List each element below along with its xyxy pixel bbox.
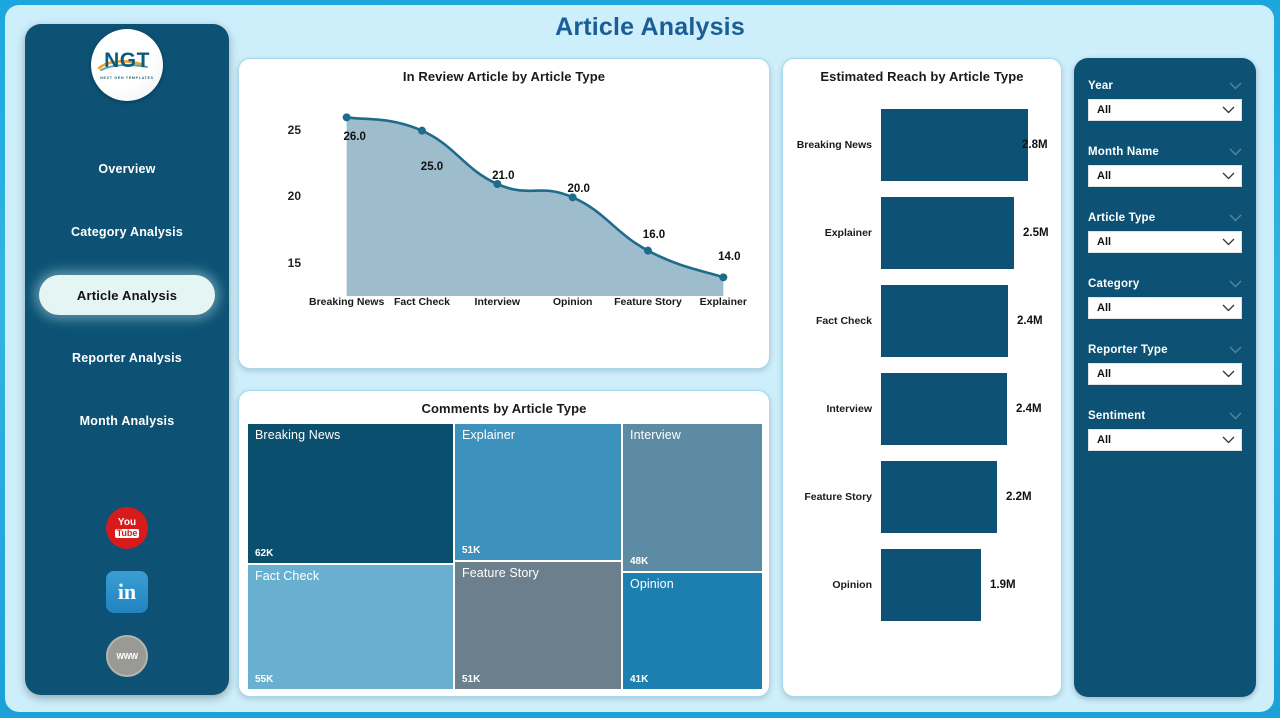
youtube-label-bottom: Tube — [115, 529, 140, 538]
x-tick-label: Fact Check — [384, 296, 459, 309]
slicer-year: Year All — [1088, 80, 1242, 121]
bar-value-label: 2.4M — [1017, 315, 1043, 327]
treemap-tile-label: Fact Check — [255, 569, 319, 583]
bar-row[interactable]: Fact Check 2.4M — [783, 277, 1061, 365]
chevron-down-icon — [1222, 436, 1235, 444]
slicer-label: Year — [1088, 80, 1113, 92]
treemap-tile-label: Explainer — [462, 428, 515, 442]
data-label: 16.0 — [643, 229, 665, 241]
slicer-dropdown[interactable]: All — [1088, 297, 1242, 319]
bar-category-label: Interview — [783, 403, 881, 415]
x-tick-label: Explainer — [686, 296, 761, 309]
slicer-header[interactable]: Article Type — [1088, 212, 1242, 224]
chart-title-comments: Comments by Article Type — [239, 391, 769, 416]
treemap-tile-value: 62K — [255, 548, 273, 559]
slicer-dropdown[interactable]: All — [1088, 99, 1242, 121]
app-logo: NGT NEXT GEN TEMPLATES — [91, 29, 163, 101]
slicer-header[interactable]: Sentiment — [1088, 410, 1242, 422]
slicer-category: Category All — [1088, 278, 1242, 319]
social-links: You Tube in WWW — [25, 507, 229, 677]
bar-track: 2.4M — [881, 365, 1061, 453]
sidebar-item-article-analysis[interactable]: Article Analysis — [39, 275, 215, 315]
data-label: 14.0 — [718, 251, 740, 263]
slicer-article-type: Article Type All — [1088, 212, 1242, 253]
filter-panel: Year All Month Name All Article Type — [1074, 58, 1256, 697]
bar-track: 1.9M — [881, 541, 1061, 629]
bar-value-label: 2.8M — [1022, 139, 1048, 151]
chevron-down-icon — [1229, 148, 1242, 156]
slicer-value: All — [1097, 368, 1111, 380]
chevron-down-icon — [1229, 280, 1242, 288]
bar-value-label: 1.9M — [990, 579, 1016, 591]
logo-mark: NGT — [104, 50, 150, 71]
bar-track: 2.2M — [881, 453, 1061, 541]
dashboard-page: NGT NEXT GEN TEMPLATES Overview Category… — [5, 5, 1274, 712]
slicer-dropdown[interactable]: All — [1088, 363, 1242, 385]
chevron-down-icon — [1222, 106, 1235, 114]
sidebar-item-label: Category Analysis — [71, 225, 183, 239]
sidebar: NGT NEXT GEN TEMPLATES Overview Category… — [25, 24, 229, 695]
in-review-article-chart-card: In Review Article by Article Type 25 20 … — [238, 58, 770, 369]
chart-title-estimated-reach: Estimated Reach by Article Type — [783, 59, 1061, 84]
bar-row[interactable]: Breaking News 2.8M — [783, 101, 1061, 189]
slicer-value: All — [1097, 170, 1111, 182]
treemap-tile-value: 41K — [630, 674, 648, 685]
bar-row[interactable]: Feature Story 2.2M — [783, 453, 1061, 541]
chevron-down-icon — [1222, 370, 1235, 378]
logo-subtitle: NEXT GEN TEMPLATES — [100, 76, 153, 80]
sidebar-item-label: Reporter Analysis — [72, 351, 182, 365]
bar-value-label: 2.2M — [1006, 491, 1032, 503]
slicer-label: Month Name — [1088, 146, 1159, 158]
slicer-value: All — [1097, 104, 1111, 116]
bar-track: 2.5M — [881, 189, 1061, 277]
slicer-header[interactable]: Year — [1088, 80, 1242, 92]
treemap-tile-value: 51K — [462, 545, 480, 556]
slicer-value: All — [1097, 434, 1111, 446]
bar-track: 2.4M — [881, 277, 1061, 365]
bar-fill — [881, 373, 1007, 445]
linkedin-icon[interactable]: in — [106, 571, 148, 613]
bar-fill — [881, 461, 997, 533]
slicer-label: Sentiment — [1088, 410, 1145, 422]
bar-row[interactable]: Opinion 1.9M — [783, 541, 1061, 629]
bar-value-label: 2.4M — [1016, 403, 1042, 415]
bar-fill — [881, 549, 981, 621]
x-tick-label: Breaking News — [309, 296, 384, 309]
comments-treemap-card: Comments by Article Type Breaking News 6… — [238, 390, 770, 697]
slicer-dropdown[interactable]: All — [1088, 231, 1242, 253]
slicer-header[interactable]: Category — [1088, 278, 1242, 290]
sidebar-item-label: Overview — [98, 162, 155, 176]
x-tick-label: Opinion — [535, 296, 610, 309]
bar-category-label: Fact Check — [783, 315, 881, 327]
website-glyph: WWW — [116, 652, 137, 661]
data-label: 20.0 — [567, 183, 589, 195]
sidebar-item-overview[interactable]: Overview — [39, 149, 215, 189]
slicer-value: All — [1097, 236, 1111, 248]
chevron-down-icon — [1229, 412, 1242, 420]
treemap-tile[interactable]: Fact Check 55K — [248, 565, 453, 689]
page-title: Article Analysis — [235, 13, 1065, 42]
slicer-dropdown[interactable]: All — [1088, 165, 1242, 187]
slicer-label: Category — [1088, 278, 1139, 290]
chevron-down-icon — [1222, 238, 1235, 246]
youtube-label-top: You — [118, 518, 136, 528]
treemap-tile[interactable]: Opinion 41K — [623, 573, 762, 689]
bar-track: 2.8M — [881, 101, 1061, 189]
treemap-tile-value: 48K — [630, 556, 648, 567]
bar-category-label: Opinion — [783, 579, 881, 591]
chevron-down-icon — [1222, 172, 1235, 180]
chevron-down-icon — [1229, 346, 1242, 354]
treemap-tile-value: 51K — [462, 674, 480, 685]
x-tick-label: Interview — [460, 296, 535, 309]
slicer-label: Reporter Type — [1088, 344, 1168, 356]
linkedin-glyph: in — [118, 579, 136, 605]
chevron-down-icon — [1229, 214, 1242, 222]
slicer-header[interactable]: Month Name — [1088, 146, 1242, 158]
treemap-tile-label: Breaking News — [255, 428, 340, 442]
bar-category-label: Explainer — [783, 227, 881, 239]
bar-value-label: 2.5M — [1023, 227, 1049, 239]
data-label: 25.0 — [421, 161, 443, 173]
website-icon[interactable]: WWW — [106, 635, 148, 677]
bar-chart: Breaking News 2.8M Explainer 2.5M Fact C… — [783, 101, 1061, 629]
data-label: 26.0 — [343, 131, 365, 143]
x-axis-labels: Breaking News Fact Check Interview Opini… — [309, 296, 761, 309]
bar-category-label: Breaking News — [783, 139, 881, 151]
slicer-value: All — [1097, 302, 1111, 314]
slicer-sentiment: Sentiment All — [1088, 410, 1242, 451]
treemap-tile-label: Interview — [630, 428, 681, 442]
estimated-reach-chart-card: Estimated Reach by Article Type Breaking… — [782, 58, 1062, 697]
data-label: 21.0 — [492, 170, 514, 182]
chevron-down-icon — [1222, 304, 1235, 312]
bar-row[interactable]: Explainer 2.5M — [783, 189, 1061, 277]
sidebar-nav: Overview Category Analysis Article Analy… — [25, 149, 229, 464]
bar-fill — [881, 109, 1028, 181]
bar-fill — [881, 197, 1014, 269]
treemap-tile[interactable]: Feature Story 51K — [455, 562, 621, 689]
bar-row[interactable]: Interview 2.4M — [783, 365, 1061, 453]
slicer-header[interactable]: Reporter Type — [1088, 344, 1242, 356]
treemap-tile-value: 55K — [255, 674, 273, 685]
slicer-label: Article Type — [1088, 212, 1155, 224]
sidebar-item-category-analysis[interactable]: Category Analysis — [39, 212, 215, 252]
slicer-dropdown[interactable]: All — [1088, 429, 1242, 451]
bar-fill — [881, 285, 1008, 357]
sidebar-item-label: Article Analysis — [77, 288, 177, 303]
area-chart[interactable]: 25 20 15 26.0 25.0 21.0 20.0 16.0 14.0 B… — [239, 84, 769, 346]
bar-category-label: Feature Story — [783, 491, 881, 503]
sidebar-item-reporter-analysis[interactable]: Reporter Analysis — [39, 338, 215, 378]
chart-title-in-review: In Review Article by Article Type — [239, 59, 769, 84]
sidebar-item-label: Month Analysis — [80, 414, 175, 428]
treemap-tile-label: Feature Story — [462, 566, 539, 580]
chevron-down-icon — [1229, 82, 1242, 90]
treemap: Breaking News 62K Fact Check 55K Explain… — [248, 424, 762, 689]
treemap-tile[interactable]: Breaking News 62K — [248, 424, 453, 563]
youtube-icon[interactable]: You Tube — [106, 507, 148, 549]
slicer-reporter-type: Reporter Type All — [1088, 344, 1242, 385]
slicer-month-name: Month Name All — [1088, 146, 1242, 187]
treemap-tile-label: Opinion — [630, 577, 674, 591]
treemap-tile[interactable]: Interview 48K — [623, 424, 762, 571]
treemap-tile[interactable]: Explainer 51K — [455, 424, 621, 560]
sidebar-item-month-analysis[interactable]: Month Analysis — [39, 401, 215, 441]
x-tick-label: Feature Story — [610, 296, 685, 309]
